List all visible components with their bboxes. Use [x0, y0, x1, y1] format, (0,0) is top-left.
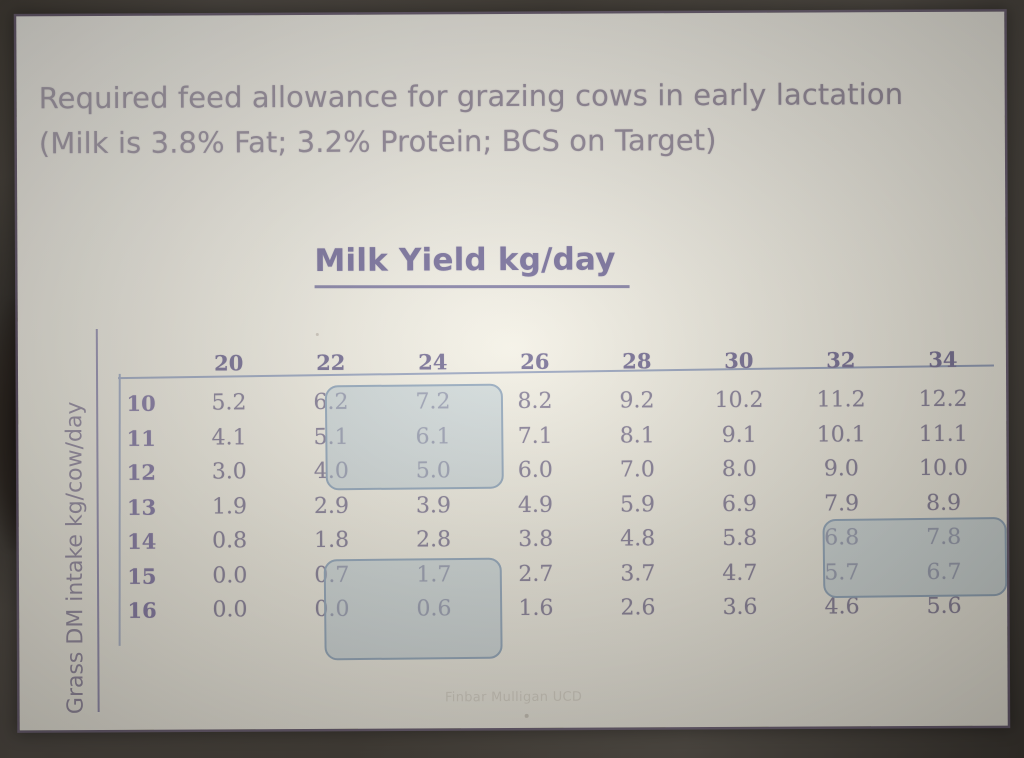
cell-14-24: 2.8 [383, 523, 485, 558]
column-header-34: 34 [892, 342, 994, 383]
cell-14-26: 3.8 [485, 522, 587, 557]
dust-speck [316, 333, 319, 336]
cell-13-32: 7.9 [790, 486, 892, 521]
cell-15-28: 3.7 [587, 556, 689, 591]
cell-13-22: 2.9 [280, 489, 382, 524]
cell-16-20: 0.0 [179, 593, 281, 628]
cell-14-28: 4.8 [587, 522, 689, 557]
cell-13-20: 1.9 [178, 489, 280, 524]
row-header-13: 13 [105, 490, 179, 525]
cell-12-34: 10.0 [892, 451, 994, 486]
column-header-20: 20 [178, 345, 280, 386]
column-header-28: 28 [586, 343, 688, 384]
cell-10-32: 11.2 [790, 383, 892, 418]
column-header-32: 32 [790, 342, 892, 383]
cell-13-28: 5.9 [586, 487, 688, 522]
y-axis-label-container: Grass DM intake kg/cow/day [62, 316, 108, 716]
row-header-15: 15 [105, 559, 179, 594]
cell-15-30: 4.7 [689, 556, 791, 591]
cell-14-22: 1.8 [281, 523, 383, 558]
cell-11-32: 10.1 [790, 417, 892, 452]
cell-13-30: 6.9 [688, 487, 790, 522]
slide-footer-credit: Finbar Mulligan UCD [20, 688, 1008, 708]
cell-12-32: 9.0 [790, 452, 892, 487]
cell-13-26: 4.9 [484, 488, 586, 523]
cell-10-28: 9.2 [586, 384, 688, 419]
table-row: 10 5.2 6.2 7.2 8.2 9.2 10.2 11.2 12.2 [104, 382, 994, 421]
photograph-of-projected-slide: Required feed allowance for grazing cows… [0, 0, 1024, 758]
chart-title-underline [315, 285, 630, 288]
slide-title: Required feed allowance for grazing cows… [39, 72, 969, 166]
cell-11-20: 4.1 [178, 420, 280, 455]
cell-11-28: 8.1 [586, 418, 688, 453]
table-header-row: 20 22 24 26 28 30 32 34 [104, 342, 994, 387]
column-header-24: 24 [382, 344, 484, 385]
row-header-14: 14 [105, 524, 179, 559]
cell-13-24: 3.9 [382, 488, 484, 523]
row-header-11: 11 [104, 421, 178, 456]
cell-12-28: 7.0 [586, 453, 688, 488]
cell-11-34: 11.1 [892, 417, 994, 452]
table-row: 11 4.1 5.1 6.1 7.1 8.1 9.1 10.1 11.1 [104, 417, 994, 456]
cell-12-20: 3.0 [178, 455, 280, 490]
highlight-box-top-left [325, 384, 504, 491]
column-header-30: 30 [688, 343, 790, 384]
chart-title: Milk Yield kg/day [314, 241, 615, 278]
table-corner-cell [104, 346, 178, 387]
row-header-16: 16 [105, 593, 179, 628]
cell-10-20: 5.2 [178, 386, 280, 421]
cell-15-20: 0.0 [179, 558, 281, 593]
dust-speck [525, 714, 529, 718]
cell-12-30: 8.0 [688, 452, 790, 487]
data-table-area: 20 22 24 26 28 30 32 34 10 [104, 342, 995, 646]
presentation-slide: Required feed allowance for grazing cows… [16, 12, 1007, 731]
cell-14-20: 0.8 [179, 524, 281, 559]
cell-10-34: 12.2 [892, 382, 994, 417]
cell-13-34: 8.9 [892, 486, 994, 521]
highlight-box-right [822, 517, 1007, 598]
cell-16-28: 2.6 [587, 591, 689, 626]
cell-10-30: 10.2 [688, 383, 790, 418]
slide-title-line-1: Required feed allowance for grazing cows… [39, 77, 904, 115]
slide-title-line-2: (Milk is 3.8% Fat; 3.2% Protein; BCS on … [39, 117, 969, 166]
table-row: 12 3.0 4.0 5.0 6.0 7.0 8.0 9.0 10.0 [104, 451, 994, 490]
y-axis-label: Grass DM intake kg/cow/day [62, 314, 89, 716]
cell-14-30: 5.8 [689, 521, 791, 556]
row-header-10: 10 [104, 386, 178, 421]
column-header-22: 22 [280, 345, 382, 386]
cell-16-30: 3.6 [689, 590, 791, 625]
cell-11-30: 9.1 [688, 418, 790, 453]
highlight-box-bottom-left [324, 558, 503, 661]
row-header-12: 12 [104, 455, 178, 490]
column-header-26: 26 [484, 344, 586, 385]
